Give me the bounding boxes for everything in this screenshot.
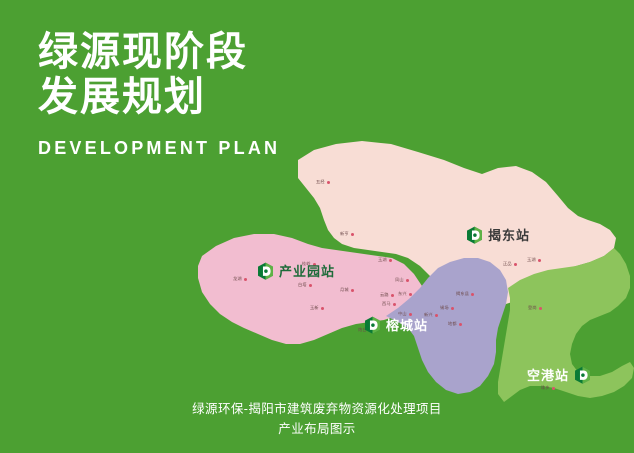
caption-line-2: 产业布局图示 (0, 420, 634, 439)
development-plan-poster: 绿源现阶段 发展规划 DEVELOPMENT PLAN 五经新亨玉湖凤山龙湖桂岭… (0, 0, 634, 453)
station-label-rongcheng: 榕城站 (386, 319, 428, 332)
city-dot-icon (309, 284, 312, 287)
city-marker: 地都 (448, 322, 462, 326)
city-marker: 龙湖 (233, 277, 247, 281)
city-label: 凤山 (395, 278, 404, 282)
city-dot-icon (409, 293, 412, 296)
city-label: 锡场 (440, 306, 449, 310)
city-label: 云路 (380, 293, 389, 297)
city-marker: 登岗 (528, 306, 542, 310)
city-marker: 白塔 (298, 283, 312, 287)
city-dot-icon (539, 307, 542, 310)
city-label: 西马 (382, 302, 391, 306)
city-marker: 五经 (316, 180, 330, 184)
city-label: 龙湖 (233, 277, 242, 281)
city-label: 登岗 (528, 306, 537, 310)
city-label: 白塔 (298, 283, 307, 287)
station-marker-konggang[interactable]: 空港站 (527, 366, 591, 384)
city-dot-icon (538, 259, 541, 262)
city-marker: 凤山 (395, 278, 409, 282)
city-dot-icon (389, 259, 392, 262)
city-label: 地都 (448, 322, 457, 326)
city-dot-icon (351, 233, 354, 236)
city-marker: 玉新 (310, 306, 324, 310)
caption-line-1: 绿源环保-揭阳市建筑废弃物资源化处理项目 (0, 400, 634, 419)
city-label: 珠乡 (541, 386, 550, 390)
station-marker-jiedong[interactable]: 揭东站 (466, 226, 530, 244)
city-label: 五经 (316, 180, 325, 184)
caption-block: 绿源环保-揭阳市建筑废弃物资源化处理项目 产业布局图示 (0, 400, 634, 439)
city-label: 东兴 (398, 292, 407, 296)
city-label: 月城 (340, 288, 349, 292)
city-dot-icon (327, 181, 330, 184)
city-label: 玉湖 (378, 258, 387, 262)
station-label-chanyeyuan: 产业园站 (279, 265, 335, 278)
station-marker-chanyeyuan[interactable]: 产业园站 (257, 262, 335, 280)
city-marker: 西马 (382, 302, 396, 306)
station-marker-rongcheng[interactable]: 榕城站 (364, 316, 428, 334)
city-dot-icon (451, 307, 454, 310)
city-marker: 揭东县 (456, 292, 474, 296)
lvyuan-logo-icon (466, 226, 483, 244)
city-label: 玉湖 (527, 258, 536, 262)
station-label-jiedong: 揭东站 (488, 229, 530, 242)
headline-block: 绿源现阶段 发展规划 DEVELOPMENT PLAN (38, 30, 368, 159)
city-label: 玉新 (310, 306, 319, 310)
city-marker: 玉湖 (378, 258, 392, 262)
city-marker: 珠乡 (541, 386, 555, 390)
city-marker: 云路 (380, 293, 394, 297)
headline-subtitle: DEVELOPMENT PLAN (38, 138, 368, 159)
headline-line-1: 绿源现阶段 (38, 30, 368, 75)
city-dot-icon (244, 278, 247, 281)
city-dot-icon (435, 314, 438, 317)
city-label: 正品 (503, 262, 512, 266)
city-dot-icon (406, 279, 409, 282)
city-label: 新亨 (340, 232, 349, 236)
city-marker: 正品 (503, 262, 517, 266)
city-label: 揭东县 (456, 292, 469, 296)
city-dot-icon (351, 289, 354, 292)
headline-line-2: 发展规划 (38, 75, 368, 120)
city-marker: 玉湖 (527, 258, 541, 262)
city-marker: 锡场 (440, 306, 454, 310)
lvyuan-logo-icon (257, 262, 274, 280)
city-dot-icon (552, 387, 555, 390)
station-label-konggang: 空港站 (527, 369, 569, 382)
city-marker: 东兴 (398, 292, 412, 296)
city-marker: 新亨 (340, 232, 354, 236)
city-marker: 月城 (340, 288, 354, 292)
city-dot-icon (471, 293, 474, 296)
lvyuan-logo-icon (364, 316, 381, 334)
city-dot-icon (514, 263, 517, 266)
city-dot-icon (321, 307, 324, 310)
city-dot-icon (391, 294, 394, 297)
lvyuan-logo-icon (574, 366, 591, 384)
city-dot-icon (393, 303, 396, 306)
city-dot-icon (459, 323, 462, 326)
